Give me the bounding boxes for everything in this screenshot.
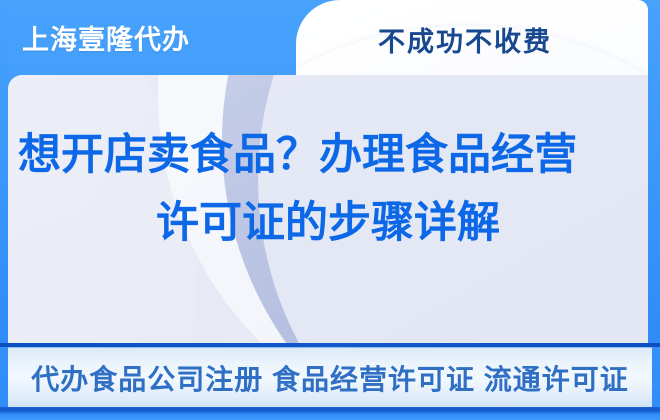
right-blue-rail <box>648 0 660 343</box>
keyword-bar: 代办食品公司注册 食品经营许可证 流通许可证 <box>0 343 660 420</box>
page-title-line-2: 许可证的步骤详解 <box>8 190 648 258</box>
page-title: 想开店卖食品？办理食品经营 许可证的步骤详解 <box>8 122 648 258</box>
brand-name: 上海壹隆代办 <box>22 18 190 57</box>
poster-footer-strip <box>0 414 660 420</box>
slogan-text: 不成功不收费 <box>378 20 552 59</box>
keyword-bar-panel: 代办食品公司注册 食品经营许可证 流通许可证 <box>8 347 652 408</box>
keyword-bar-bottom-rule <box>0 407 660 414</box>
keyword-bar-text: 代办食品公司注册 食品经营许可证 流通许可证 <box>31 358 629 398</box>
page-title-line-1: 想开店卖食品？办理食品经营 <box>8 122 648 190</box>
promo-poster: 上海壹隆代办 不成功不收费 想开店卖食品？办理食品经营 许可证的步骤详解 代办食… <box>0 0 660 420</box>
left-blue-rail <box>0 0 8 343</box>
